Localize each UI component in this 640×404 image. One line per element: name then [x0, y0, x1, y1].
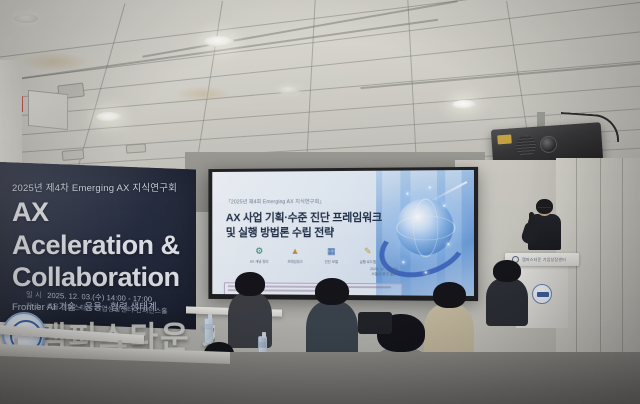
projector-vent: [515, 135, 536, 157]
slide-icon-label: 프레임워크: [285, 259, 305, 264]
glasses-icon: [538, 207, 551, 210]
attendee-beige-head: [433, 282, 466, 308]
wall-speaker: [28, 90, 68, 130]
slide-kicker: 「2025년 제4회 Emerging AX 지식연구회」: [226, 198, 325, 205]
ceiling-light-4: [278, 86, 300, 94]
ceiling-light-2: [96, 112, 122, 122]
ceiling-stain: [20, 52, 90, 72]
slide-icon-label: 진단 모델: [321, 259, 341, 264]
projector-lens: [539, 135, 557, 153]
attendee-far-right-body: [486, 278, 528, 326]
slide-icon-label: AX 개념 정의: [249, 259, 269, 264]
event-banner: 2025년 제4차 Emerging AX 지식연구회 AX Acelerati…: [0, 162, 196, 330]
ceiling-light-1: [204, 36, 234, 47]
ceiling-light-5: [14, 14, 38, 23]
banner-date-label: 일 시: [26, 290, 42, 300]
slide-title-line-1: AX 사업 기획·수준 진단 프레임워크: [226, 211, 394, 226]
floor: [0, 352, 640, 404]
podium-emblem: [532, 284, 552, 304]
slide-date-line-2: 서울시 중구 종로: [370, 273, 398, 279]
slide-title: AX 사업 기획·수준 진단 프레임워크 및 실행 방법론 수립 전략: [226, 211, 394, 240]
ceiling-vent: [126, 143, 147, 153]
banner-heading-line-1: AX: [12, 199, 186, 227]
slide-date-block: 2025. 12. 03. (수) 서울시 중구 종로: [370, 267, 398, 278]
slide-icon-glyph: ▲: [285, 247, 305, 256]
conference-room-photo: 2025년 제4차 Emerging AX 지식연구회 AX Acelerati…: [0, 0, 640, 404]
attendee-back-center-head: [315, 278, 349, 305]
slide-icon-glyph: ✎: [358, 247, 379, 256]
banner-kicker: 2025년 제4차 Emerging AX 지식연구회: [12, 180, 186, 194]
slide-title-line-2: 및 실행 방법론 수립 전략: [226, 225, 394, 240]
ceiling-stain: [176, 86, 232, 102]
ceiling-light-3: [452, 100, 476, 109]
slide-icon-3: ▦진단 모델: [321, 247, 341, 264]
attendee-far-right-head: [493, 260, 521, 282]
banner-heading-line-2: Aceleration &: [12, 231, 186, 259]
slide-icon-2: ▲프레임워크: [285, 247, 305, 264]
banner-heading-line-3: Collaboration: [12, 264, 186, 292]
slide-icon-glyph: ⚙: [249, 247, 269, 256]
ceiling-vent: [62, 149, 85, 161]
podium-logo-text: 캠퍼스타운 기업성장센터: [522, 257, 566, 263]
slide-icon-glyph: ▦: [321, 247, 341, 256]
slide-icon-1: ⚙AX 개념 정의: [249, 247, 269, 264]
slide-icon-4: ✎실행 로드맵: [358, 247, 379, 264]
laptop-bag: [358, 312, 392, 334]
attendee-back-left-head: [235, 272, 265, 296]
microphone-icon: [529, 212, 534, 224]
water-bottle-1: [204, 318, 213, 344]
slide-icon-row: ⚙AX 개념 정의▲프레임워크▦진단 모델✎실행 로드맵: [249, 247, 378, 264]
slide-icon-label: 실행 로드맵: [358, 259, 379, 264]
